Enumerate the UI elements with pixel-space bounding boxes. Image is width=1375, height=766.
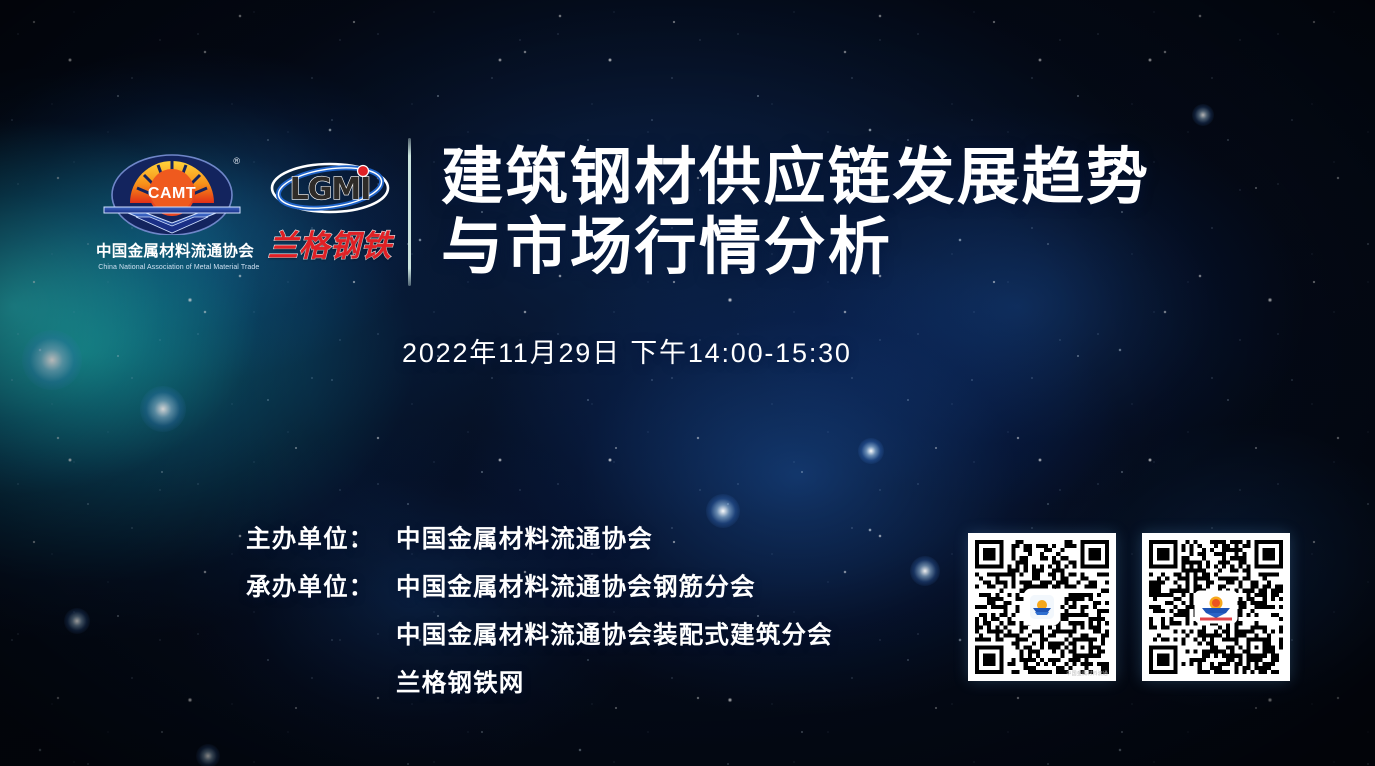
organizer-value: 中国金属材料流通协会钢筋分会 [396, 568, 756, 603]
sunrise-badge-glyph [1030, 595, 1054, 619]
logo-group: CAMT ® 中国金属材料流通协会 China National Associa… [96, 153, 394, 271]
svg-text:LGMI: LGMI [290, 172, 371, 207]
lgmi-logo: LGMI LGMI 兰格钢铁 [266, 153, 394, 265]
organizer-label: 主办单位： [246, 520, 396, 555]
camt-name-en: China National Association of Metal Mate… [98, 262, 245, 271]
title-line-1: 建筑钢材供应链发展趋势 [441, 143, 1151, 213]
camt-logo: CAMT ® 中国金属材料流通协会 China National Associa… [96, 153, 248, 271]
lgmi-name-cn: 兰格钢铁 [266, 221, 394, 265]
poster-header: CAMT ® 中国金属材料流通协会 China National Associa… [96, 138, 1151, 286]
organizer-list: 主办单位： 中国金属材料流通协会 承办单位： 中国金属材料流通协会钢筋分会 中国… [246, 520, 833, 712]
title-divider [408, 138, 411, 286]
qr-code-1-watermark: 中国金属材料流通 [1066, 670, 1108, 677]
organizer-row: 兰格钢铁网 [246, 664, 833, 699]
camt-sunrise-wings-icon: CAMT ® [98, 153, 246, 235]
qr-code-2[interactable] [1142, 533, 1290, 681]
camt-badge-icon [1196, 592, 1236, 622]
organizer-value: 中国金属材料流通协会装配式建筑分会 [396, 616, 833, 651]
lgmi-ellipse-icon: LGMI LGMI [268, 159, 392, 217]
qr-code-1[interactable]: 中国金属材料流通 [968, 533, 1116, 681]
title-line-2: 与市场行情分析 [441, 213, 1151, 283]
registered-mark-icon: ® [233, 157, 240, 166]
organizer-value: 中国金属材料流通协会 [396, 520, 653, 555]
poster-canvas: CAMT ® 中国金属材料流通协会 China National Associa… [0, 0, 1375, 766]
organizer-value: 兰格钢铁网 [396, 664, 525, 699]
organizer-row: 承办单位： 中国金属材料流通协会钢筋分会 [246, 568, 833, 603]
qr-code-group: 中国金属材料流通 [968, 533, 1290, 681]
svg-text:CAMT: CAMT [148, 185, 196, 202]
event-datetime: 2022年11月29日 下午14:00-15:30 [402, 331, 852, 370]
organizer-row: 主办单位： 中国金属材料流通协会 [246, 520, 833, 555]
organizer-label: 承办单位： [246, 568, 396, 603]
camt-name-cn: 中国金属材料流通协会 [96, 239, 248, 261]
sunrise-badge-icon [1025, 590, 1059, 624]
organizer-row: 中国金属材料流通协会装配式建筑分会 [246, 616, 833, 651]
title-block: 建筑钢材供应链发展趋势 与市场行情分析 [441, 141, 1151, 283]
